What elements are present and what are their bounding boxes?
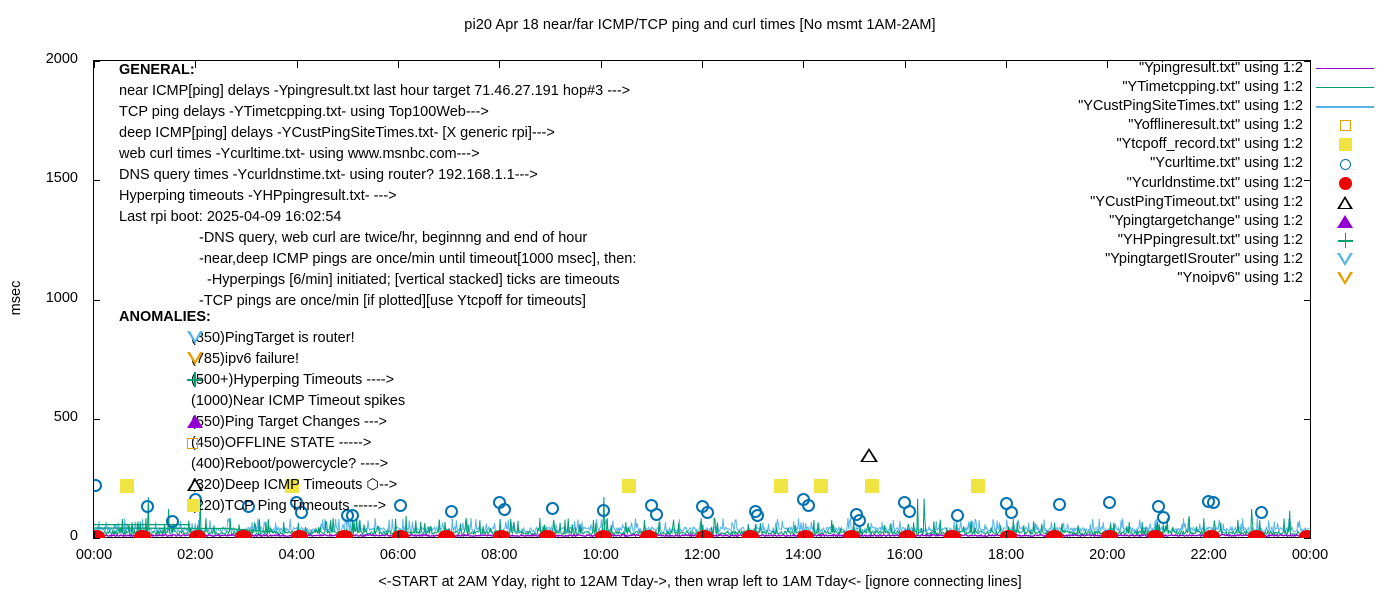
y-tick-label: 0: [30, 528, 78, 544]
x-tick-label: 00:00: [1280, 547, 1340, 563]
x-tick-label: 20:00: [1077, 547, 1137, 563]
data-point-dns: [797, 530, 814, 538]
data-point-tcp-timeout: [865, 479, 879, 493]
legend-key-line: [1309, 97, 1381, 116]
legend-label: "YCustPingTimeout.txt" using 1:2: [1090, 193, 1303, 212]
anomaly-marker-triangle-down-open-orange: [187, 351, 209, 368]
data-point-dns: [1147, 530, 1164, 538]
legend-key-plus: [1309, 231, 1381, 250]
anomaly-marker-triangle-up-fill: [187, 414, 209, 431]
x-tick-mark: [1006, 531, 1007, 538]
data-point-dns: [493, 530, 510, 538]
y-tick-mark: [1304, 180, 1311, 181]
x-tick-mark: [905, 61, 906, 68]
general-annotation-block: GENERAL: near ICMP[ping] delays -Ypingre…: [119, 60, 636, 312]
data-point-curl: [445, 505, 458, 518]
anomaly-label: (220)TCP Ping Timeouts ----->: [191, 496, 386, 517]
data-point-dns: [843, 530, 860, 538]
data-point-curl: [1103, 496, 1116, 509]
legend-key-line: [1309, 59, 1381, 78]
data-point-dns: [899, 530, 916, 538]
legend-row: "Ytcpoff_record.txt" using 1:2: [1021, 135, 1381, 154]
anomaly-row: (400)Reboot/powercycle? ---->: [119, 454, 405, 475]
data-point-curl: [701, 506, 714, 519]
x-tick-label: 16:00: [875, 547, 935, 563]
y-tick-mark: [1304, 538, 1311, 539]
data-point-dns: [696, 530, 713, 538]
data-point-dns: [944, 530, 961, 538]
x-tick-mark: [601, 61, 602, 68]
data-point-curl: [94, 479, 102, 492]
x-tick-mark: [702, 61, 703, 68]
data-point-dns: [438, 530, 455, 538]
data-point-curl: [1157, 511, 1170, 524]
legend-row: "Ypingtargetchange" using 1:2: [1021, 212, 1381, 231]
data-point-dns: [1000, 530, 1017, 538]
general-line: Hyperping timeouts -YHPpingresult.txt- -…: [119, 186, 636, 207]
y-tick-mark: [93, 419, 100, 420]
legend-key-line: [1309, 78, 1381, 97]
legend-row: "Ycurldnstime.txt" using 1:2: [1021, 174, 1381, 193]
x-tick-mark: [499, 61, 500, 68]
data-point-dns: [235, 530, 252, 538]
anomaly-label: (500+)Hyperping Timeouts ---->: [191, 370, 394, 391]
legend-label: "YpingtargetISrouter" using 1:2: [1105, 250, 1303, 269]
y-tick-label: 2000: [30, 51, 78, 67]
y-axis-title: msec: [8, 268, 24, 328]
legend-key-square-fill: [1309, 135, 1381, 154]
anomaly-label: (1000)Near ICMP Timeout spikes: [191, 391, 405, 412]
data-point-curl: [650, 508, 663, 521]
y-tick-label: 1500: [30, 170, 78, 186]
data-point-dns: [539, 530, 556, 538]
data-point-dns: [134, 530, 151, 538]
legend-row: "Ycurltime.txt" using 1:2: [1021, 154, 1381, 173]
chart-title: pi20 Apr 18 near/far ICMP/TCP ping and c…: [0, 17, 1400, 33]
data-point-dns: [94, 530, 105, 538]
legend-key-circle-fill: [1309, 174, 1381, 193]
legend-label: "Ycurltime.txt" using 1:2: [1150, 154, 1303, 173]
x-tick-label: 06:00: [368, 547, 428, 563]
data-point-curl: [1053, 498, 1066, 511]
x-tick-label: 08:00: [469, 547, 529, 563]
anomaly-marker-square-fill: [187, 498, 209, 515]
data-point-curl: [1005, 506, 1018, 519]
anomaly-row: (320)Deep ICMP Timeouts ⬡-->: [119, 475, 405, 496]
legend-key-triangle-down-open-cyan: [1309, 250, 1381, 269]
legend-row: "Ynoipv6" using 1:2: [1021, 269, 1381, 288]
anomaly-row: (450)OFFLINE STATE ----->: [119, 433, 405, 454]
legend-label: "Ypingresult.txt" using 1:2: [1139, 59, 1303, 78]
x-tick-mark: [702, 531, 703, 538]
x-tick-label: 10:00: [571, 547, 631, 563]
y-tick-mark: [1304, 419, 1311, 420]
y-tick-label: 1000: [30, 290, 78, 306]
anomaly-label: (550)Ping Target Changes --->: [191, 412, 387, 433]
anomaly-label: (320)Deep ICMP Timeouts ⬡-->: [191, 475, 397, 496]
x-tick-mark: [195, 531, 196, 538]
x-tick-mark: [1310, 61, 1311, 68]
legend-row: "YCustPingTimeout.txt" using 1:2: [1021, 193, 1381, 212]
legend-key-circle-open: [1309, 154, 1381, 173]
x-tick-mark: [94, 61, 95, 68]
y-tick-mark: [93, 538, 100, 539]
anomaly-row: (850)PingTarget is router!: [119, 328, 405, 349]
x-tick-mark: [94, 531, 95, 538]
anomaly-marker-plus: [187, 372, 209, 389]
general-line: deep ICMP[ping] delays -YCustPingSiteTim…: [119, 123, 636, 144]
data-point-dns: [189, 530, 206, 538]
x-tick-mark: [297, 61, 298, 68]
anomaly-marker-none: [187, 393, 209, 410]
legend-row: "Yofflineresult.txt" using 1:2: [1021, 116, 1381, 135]
general-heading: GENERAL:: [119, 60, 636, 81]
general-note: -DNS query, web curl are twice/hr, begin…: [119, 228, 636, 249]
anomalies-heading: ANOMALIES:: [119, 307, 405, 328]
legend-label: "Ynoipv6" using 1:2: [1177, 269, 1303, 288]
legend-key-triangle-up-open: [1309, 193, 1381, 212]
data-point-curl: [903, 505, 916, 518]
data-point-dns: [1248, 530, 1265, 538]
anomaly-label: (400)Reboot/powercycle? ---->: [191, 454, 388, 475]
anomaly-row: (550)Ping Target Changes --->: [119, 412, 405, 433]
x-tick-mark: [398, 531, 399, 538]
data-point-tcp-timeout: [814, 479, 828, 493]
data-point-dns: [291, 530, 308, 538]
general-line: near ICMP[ping] delays -Ypingresult.txt …: [119, 81, 636, 102]
data-point-curl: [751, 509, 764, 522]
y-tick-mark: [1304, 300, 1311, 301]
data-point-tcp-timeout: [622, 479, 636, 493]
anomaly-marker-triangle-up-open: [187, 477, 209, 494]
x-tick-mark: [398, 61, 399, 68]
x-tick-mark: [1209, 61, 1210, 68]
data-point-dns: [640, 530, 657, 538]
x-tick-mark: [601, 531, 602, 538]
legend-label: "YCustPingSiteTimes.txt" using 1:2: [1078, 97, 1303, 116]
anomaly-marker-square-open: [187, 435, 209, 452]
chart-canvas: pi20 Apr 18 near/far ICMP/TCP ping and c…: [0, 0, 1400, 600]
anomaly-label: (450)OFFLINE STATE ----->: [191, 433, 371, 454]
data-point-tcp-timeout: [971, 479, 985, 493]
data-point-dns: [1046, 530, 1063, 538]
anomaly-row: (500+)Hyperping Timeouts ---->: [119, 370, 405, 391]
data-point-dns: [1203, 530, 1220, 538]
x-tick-mark: [1209, 531, 1210, 538]
x-tick-label: 04:00: [267, 547, 327, 563]
x-tick-label: 12:00: [672, 547, 732, 563]
legend-row: "YCustPingSiteTimes.txt" using 1:2: [1021, 97, 1381, 116]
y-tick-mark: [93, 300, 100, 301]
general-note: -Hyperpings [6/min] initiated; [vertical…: [119, 270, 636, 291]
data-point-dns: [1299, 530, 1310, 538]
x-tick-mark: [297, 531, 298, 538]
data-point-dns: [1101, 530, 1118, 538]
general-note: -near,deep ICMP pings are once/min until…: [119, 249, 636, 270]
general-line: Last rpi boot: 2025-04-09 16:02:54: [119, 207, 636, 228]
legend-key-triangle-up-fill: [1309, 212, 1381, 231]
y-axis-labels: 2000150010005000: [30, 0, 78, 600]
data-point-deep-icmp-timeout: [860, 448, 878, 462]
data-point-curl: [853, 514, 866, 527]
data-point-curl: [951, 509, 964, 522]
x-tick-label: 22:00: [1179, 547, 1239, 563]
data-point-curl: [802, 499, 815, 512]
legend-row: "YTimetcpping.txt" using 1:2: [1021, 78, 1381, 97]
x-tick-mark: [803, 61, 804, 68]
general-line: web curl times -Ycurltime.txt- using www…: [119, 144, 636, 165]
data-point-curl: [546, 502, 559, 515]
legend-row: "YHPpingresult.txt" using 1:2: [1021, 231, 1381, 250]
x-tick-mark: [1107, 61, 1108, 68]
data-point-curl: [1207, 496, 1220, 509]
legend-label: "YHPpingresult.txt" using 1:2: [1118, 231, 1303, 250]
legend-row: "YpingtargetISrouter" using 1:2: [1021, 250, 1381, 269]
data-point-curl: [1255, 506, 1268, 519]
legend-label: "Ytcpoff_record.txt" using 1:2: [1116, 135, 1303, 154]
anomalies-list: (850)PingTarget is router!(785)ipv6 fail…: [119, 328, 405, 517]
data-point-tcp-timeout: [774, 479, 788, 493]
anomaly-marker-triangle-down-open-cyan: [187, 330, 209, 347]
data-point-curl: [498, 503, 511, 516]
anomaly-row: (220)TCP Ping Timeouts ----->: [119, 496, 405, 517]
x-tick-mark: [1310, 531, 1311, 538]
data-point-curl: [597, 504, 610, 517]
y-tick-mark: [93, 180, 100, 181]
anomaly-label: (850)PingTarget is router!: [191, 328, 355, 349]
general-line: DNS query times -Ycurldnstime.txt- using…: [119, 165, 636, 186]
chart-legend: "Ypingresult.txt" using 1:2"YTimetcpping…: [1021, 59, 1381, 288]
legend-label: "Ycurldnstime.txt" using 1:2: [1127, 174, 1303, 193]
data-point-dns: [595, 530, 612, 538]
legend-label: "YTimetcpping.txt" using 1:2: [1122, 78, 1303, 97]
x-tick-mark: [803, 531, 804, 538]
x-tick-label: 14:00: [773, 547, 833, 563]
anomalies-annotation-block: ANOMALIES: (850)PingTarget is router!(78…: [119, 307, 405, 517]
anomaly-row: (785)ipv6 failure!: [119, 349, 405, 370]
legend-label: "Yofflineresult.txt" using 1:2: [1128, 116, 1303, 135]
x-tick-mark: [1006, 61, 1007, 68]
data-point-dns: [742, 530, 759, 538]
general-line: TCP ping delays -YTimetcpping.txt- using…: [119, 102, 636, 123]
y-tick-label: 500: [30, 409, 78, 425]
x-tick-label: 18:00: [976, 547, 1036, 563]
x-tick-mark: [195, 61, 196, 68]
x-axis-caption: <-START at 2AM Yday, right to 12AM Tday-…: [0, 574, 1400, 590]
data-point-dns: [392, 530, 409, 538]
x-tick-mark: [499, 531, 500, 538]
x-tick-mark: [1107, 531, 1108, 538]
legend-key-square-open: [1309, 116, 1381, 135]
legend-label: "Ypingtargetchange" using 1:2: [1109, 212, 1303, 231]
anomaly-row: (1000)Near ICMP Timeout spikes: [119, 391, 405, 412]
x-tick-mark: [905, 531, 906, 538]
data-point-dns: [336, 530, 353, 538]
anomaly-marker-none: [187, 456, 209, 473]
general-lines: near ICMP[ping] delays -Ypingresult.txt …: [119, 81, 636, 228]
legend-key-triangle-down-open-orange: [1309, 269, 1381, 288]
legend-row: "Ypingresult.txt" using 1:2: [1021, 59, 1381, 78]
x-tick-label: 02:00: [165, 547, 225, 563]
x-tick-label: 00:00: [64, 547, 124, 563]
general-notes: -DNS query, web curl are twice/hr, begin…: [119, 228, 636, 312]
